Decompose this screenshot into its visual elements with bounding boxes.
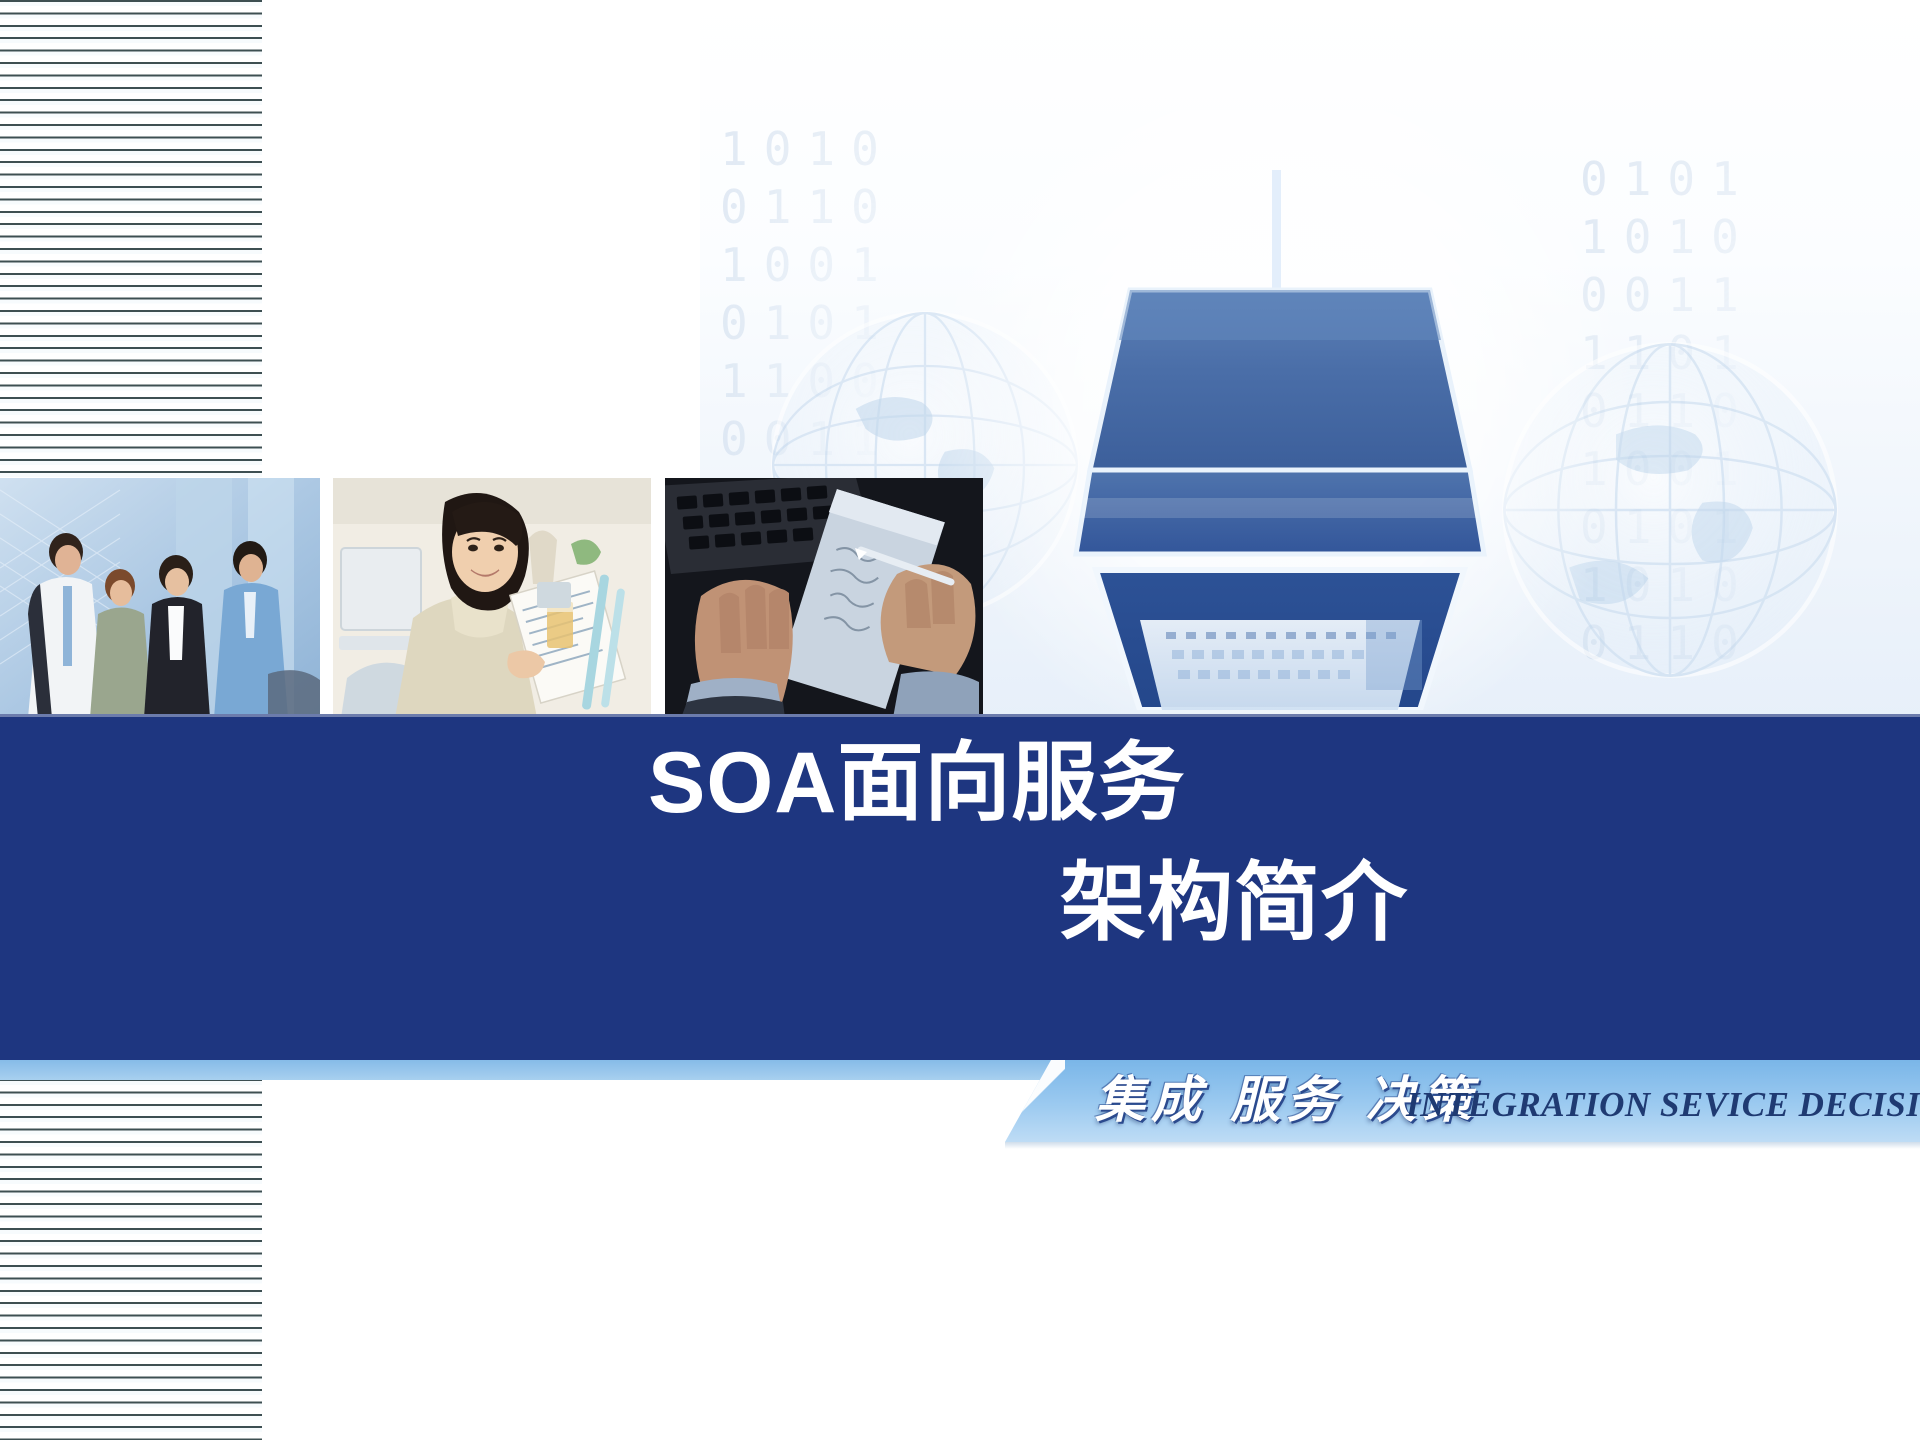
woman-documents-photo xyxy=(333,478,651,718)
stripe-pattern-top xyxy=(0,0,262,478)
page-title-line-1: SOA面向服务 xyxy=(648,735,1185,831)
page-title-line-2: 架构简介 xyxy=(1060,855,1408,951)
stripe-pattern-bottom xyxy=(0,1079,262,1440)
business-team-photo xyxy=(0,478,320,718)
presentation-slide: 1010 0110 1001 0101 1100 0011 1010 0110 … xyxy=(0,0,1920,1440)
handwriting-keyboard-photo xyxy=(665,478,983,718)
tagline-banner-shadow xyxy=(1005,1142,1920,1149)
computer-monitor-graphic xyxy=(1000,150,1560,710)
tagline-english: INTEGRATION SEVICE DECISION-MAKING xyxy=(1406,1085,1920,1125)
